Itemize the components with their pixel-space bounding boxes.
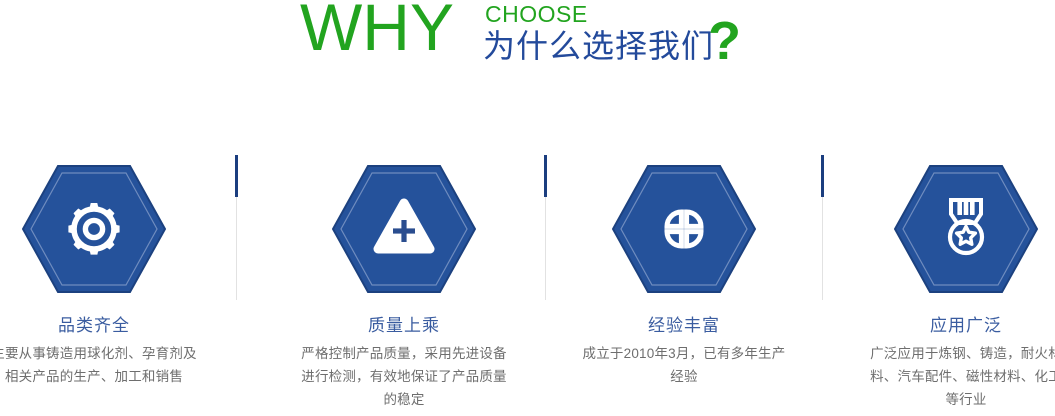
feature-desc: 成立于2010年3月，已有多年生产经验 [577,342,792,388]
divider-blue-segment [235,155,238,197]
feature-card-3[interactable]: 经验丰富 成立于2010年3月，已有多年生产经验 [554,150,814,416]
section-header: WHY CHOOSE 为什么选择我们 ? [0,0,1055,96]
triangle-plus-icon [332,165,476,293]
question-mark: ? [708,14,741,68]
feature-title: 质量上乘 [274,315,534,337]
feature-desc: 广泛应用于炼钢、铸造，耐火材料、汽车配件、磁性材料、化工等行业 [864,342,1055,411]
heading-chinese: 为什么选择我们 [483,29,714,63]
heading-why: WHY [300,0,454,60]
hexagon-badge-3 [612,165,756,293]
feature-title: 应用广泛 [836,315,1055,337]
feature-card-1[interactable]: 品类齐全 主要从事铸造用球化剂、孕育剂及相关产品的生产、加工和销售 [0,150,224,416]
divider-grey-segment [236,197,237,300]
hexagon-badge-4 [894,165,1038,293]
medal-icon [894,165,1038,293]
feature-card-4[interactable]: 应用广泛 广泛应用于炼钢、铸造，耐火材料、汽车配件、磁性材料、化工等行业 [836,150,1055,416]
divider-blue-segment [544,155,547,197]
feature-title: 经验丰富 [554,315,814,337]
divider-blue-segment [821,155,824,197]
gear-icon [22,165,166,293]
heading-choose: CHOOSE [485,3,588,26]
four-petal-clover-icon [612,165,756,293]
header-title-group: WHY CHOOSE 为什么选择我们 ? [300,0,770,96]
feature-columns: 品类齐全 主要从事铸造用球化剂、孕育剂及相关产品的生产、加工和销售 质量上乘 严… [0,150,1055,416]
feature-title: 品类齐全 [0,315,224,337]
divider-grey-segment [545,197,546,300]
hexagon-badge-1 [22,165,166,293]
divider-grey-segment [822,197,823,300]
feature-desc: 严格控制产品质量，采用先进设备进行检测，有效地保证了产品质量的稳定 [297,342,512,411]
feature-card-2[interactable]: 质量上乘 严格控制产品质量，采用先进设备进行检测，有效地保证了产品质量的稳定 [274,150,534,416]
feature-desc: 主要从事铸造用球化剂、孕育剂及相关产品的生产、加工和销售 [0,342,202,388]
hexagon-badge-2 [332,165,476,293]
